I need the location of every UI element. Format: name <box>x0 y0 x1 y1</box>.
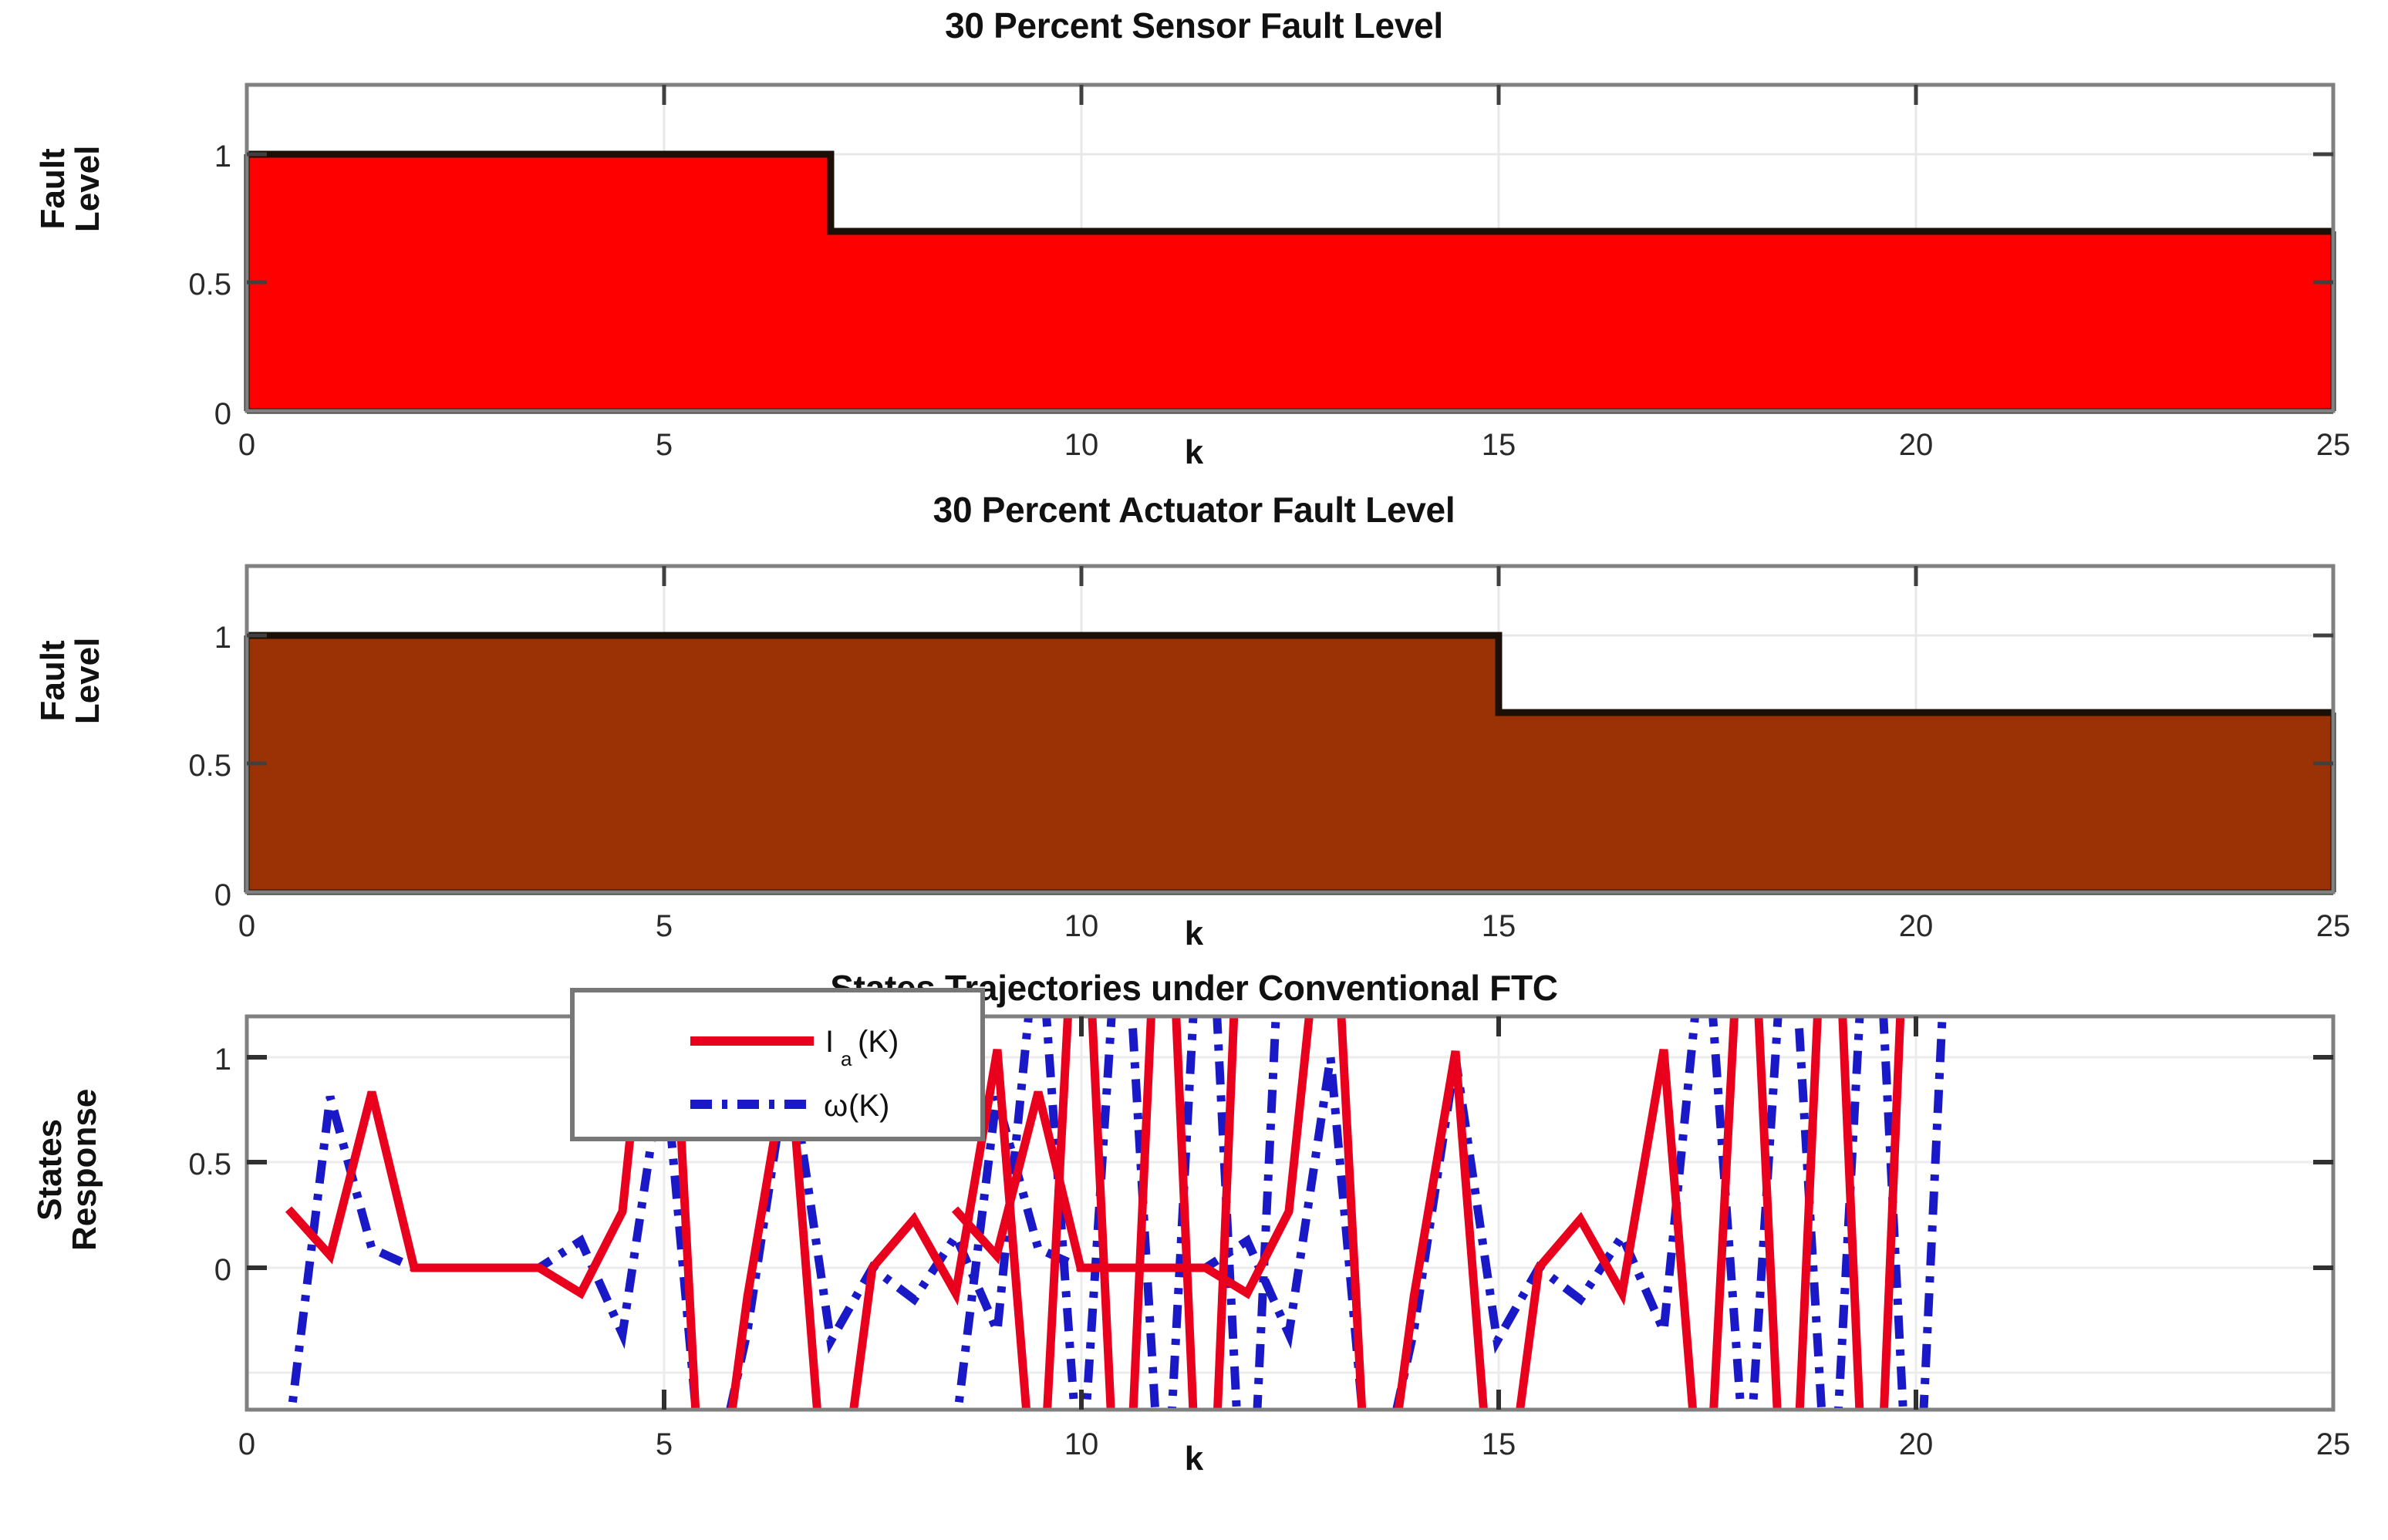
panel-actuator-fault: 30 Percent Actuator Fault Level Fault Le… <box>0 478 2388 958</box>
legend[interactable]: I a (K) ω (K) <box>572 990 983 1139</box>
sensor-fault-area <box>247 154 2333 411</box>
legend-label-ia-subscript: a <box>841 1047 852 1070</box>
p2-ytick-0.5: 0.5 <box>188 749 231 783</box>
p2-ytick-1: 1 <box>214 621 231 655</box>
figure-root: 30 Percent Sensor Fault Level Fault Leve… <box>0 0 2388 1540</box>
legend-label-omega-suffix: (K) <box>848 1089 889 1123</box>
legend-box <box>572 990 983 1139</box>
legend-label-ia-suffix: (K) <box>858 1025 899 1059</box>
actuator-fault-area <box>247 635 2333 892</box>
legend-label-omega: ω <box>824 1089 848 1123</box>
legend-label-ia: I <box>825 1025 834 1059</box>
p1-ytick-0: 0 <box>214 397 231 431</box>
panel-sensor-fault: 30 Percent Sensor Fault Level Fault Leve… <box>0 0 2388 478</box>
p3-ytick-0.5: 0.5 <box>188 1147 231 1181</box>
panel-actuator-fault-plot: 0 0.5 1 0 5 10 15 20 25 <box>0 478 2388 958</box>
p1-ytick-0.5: 0.5 <box>188 268 231 302</box>
p3-ytick-1: 1 <box>214 1043 231 1077</box>
panel-sensor-fault-xlabel: k <box>0 433 2388 472</box>
panel-actuator-fault-xlabel: k <box>0 915 2388 953</box>
p3-ytick-0: 0 <box>214 1253 231 1287</box>
p1-ytick-1: 1 <box>214 140 231 174</box>
p2-ytick-0: 0 <box>214 878 231 912</box>
panel-states-trajectories-xlabel: k <box>0 1440 2388 1478</box>
panel-states-trajectories: States Trajectories under Conventional F… <box>0 958 2388 1540</box>
panel-sensor-fault-plot: 0 0.5 1 0 5 10 15 20 25 <box>0 0 2388 478</box>
